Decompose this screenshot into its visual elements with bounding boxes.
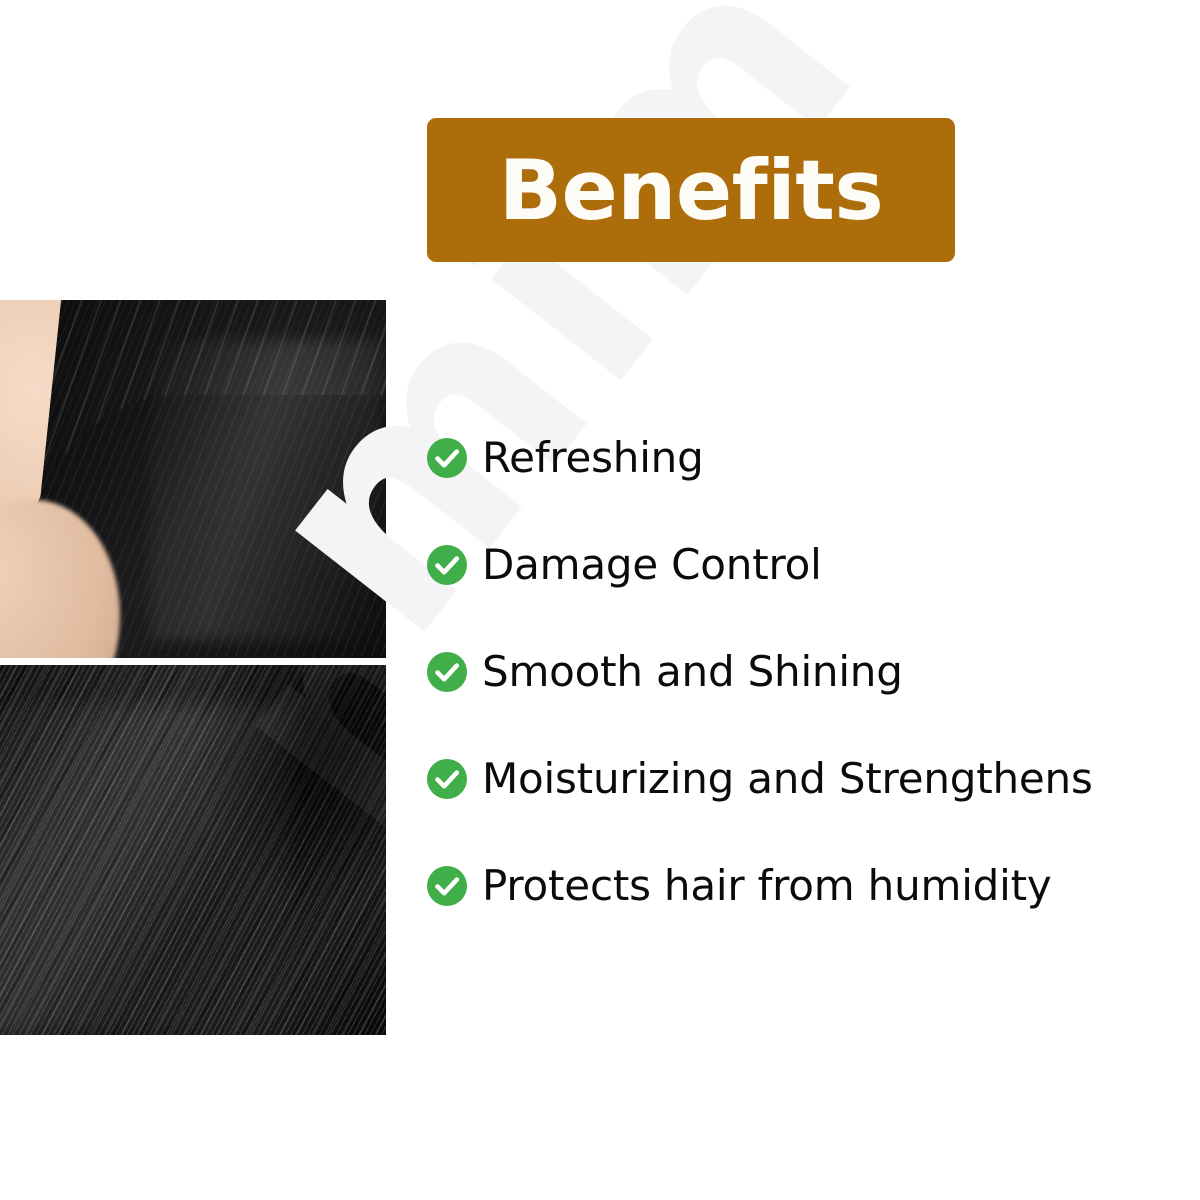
- page-title: Benefits: [499, 149, 884, 232]
- photo-woman-long-black-hair: [0, 300, 386, 658]
- list-item: Damage Control: [426, 511, 1166, 618]
- list-item: Moisturizing and Strengthens: [426, 725, 1166, 832]
- check-circle-icon: [426, 651, 468, 693]
- list-item: Refreshing: [426, 404, 1166, 511]
- check-circle-icon: [426, 865, 468, 907]
- benefits-banner: Benefits: [427, 118, 955, 262]
- benefit-label: Protects hair from humidity: [482, 865, 1052, 907]
- benefit-label: Moisturizing and Strengthens: [482, 758, 1093, 800]
- check-circle-icon: [426, 437, 468, 479]
- check-circle-icon: [426, 544, 468, 586]
- benefit-label: Damage Control: [482, 544, 822, 586]
- check-circle-icon: [426, 758, 468, 800]
- benefit-label: Refreshing: [482, 437, 704, 479]
- list-item: Smooth and Shining: [426, 618, 1166, 725]
- benefits-list: Refreshing Damage Control Smooth and Shi…: [426, 404, 1166, 939]
- poster-canvas: mim mim Benefits Refreshing: [0, 0, 1200, 1200]
- photo-black-hair-closeup: mim: [0, 665, 386, 1035]
- benefit-label: Smooth and Shining: [482, 651, 903, 693]
- list-item: Protects hair from humidity: [426, 832, 1166, 939]
- photo-hair-sheen: [150, 340, 380, 640]
